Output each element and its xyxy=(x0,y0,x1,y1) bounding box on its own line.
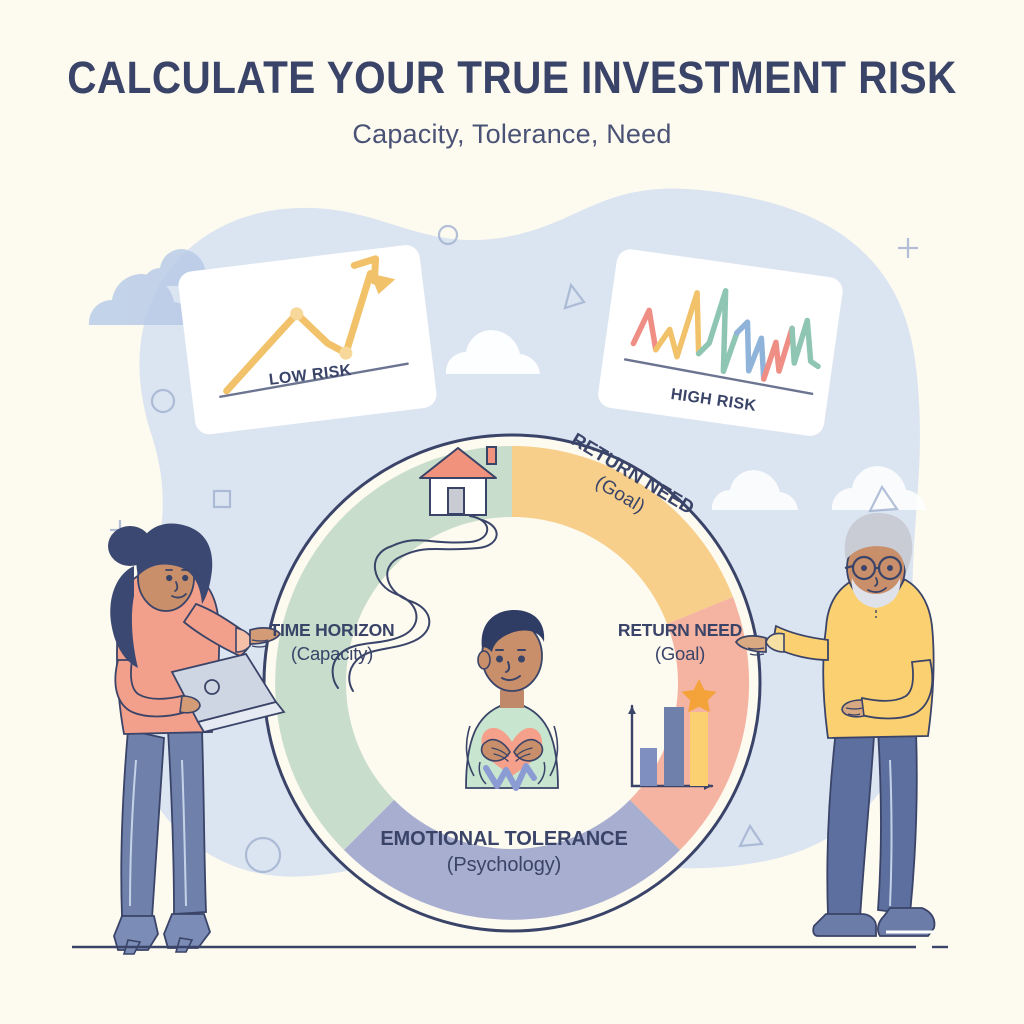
page-title: CALCULATE YOUR TRUE INVESTMENT RISK xyxy=(51,52,973,104)
header: CALCULATE YOUR TRUE INVESTMENT RISK Capa… xyxy=(0,52,1024,150)
infographic-canvas: CALCULATE YOUR TRUE INVESTMENT RISK Capa… xyxy=(0,0,1024,1024)
page-subtitle: Capacity, Tolerance, Need xyxy=(0,118,1024,150)
illustration-scene xyxy=(0,0,1024,1024)
risk-wheel[interactable] xyxy=(264,435,760,931)
card-low-risk[interactable] xyxy=(177,243,438,435)
bar-3 xyxy=(690,712,708,786)
bar-2 xyxy=(664,707,684,786)
bar-1 xyxy=(640,748,657,786)
